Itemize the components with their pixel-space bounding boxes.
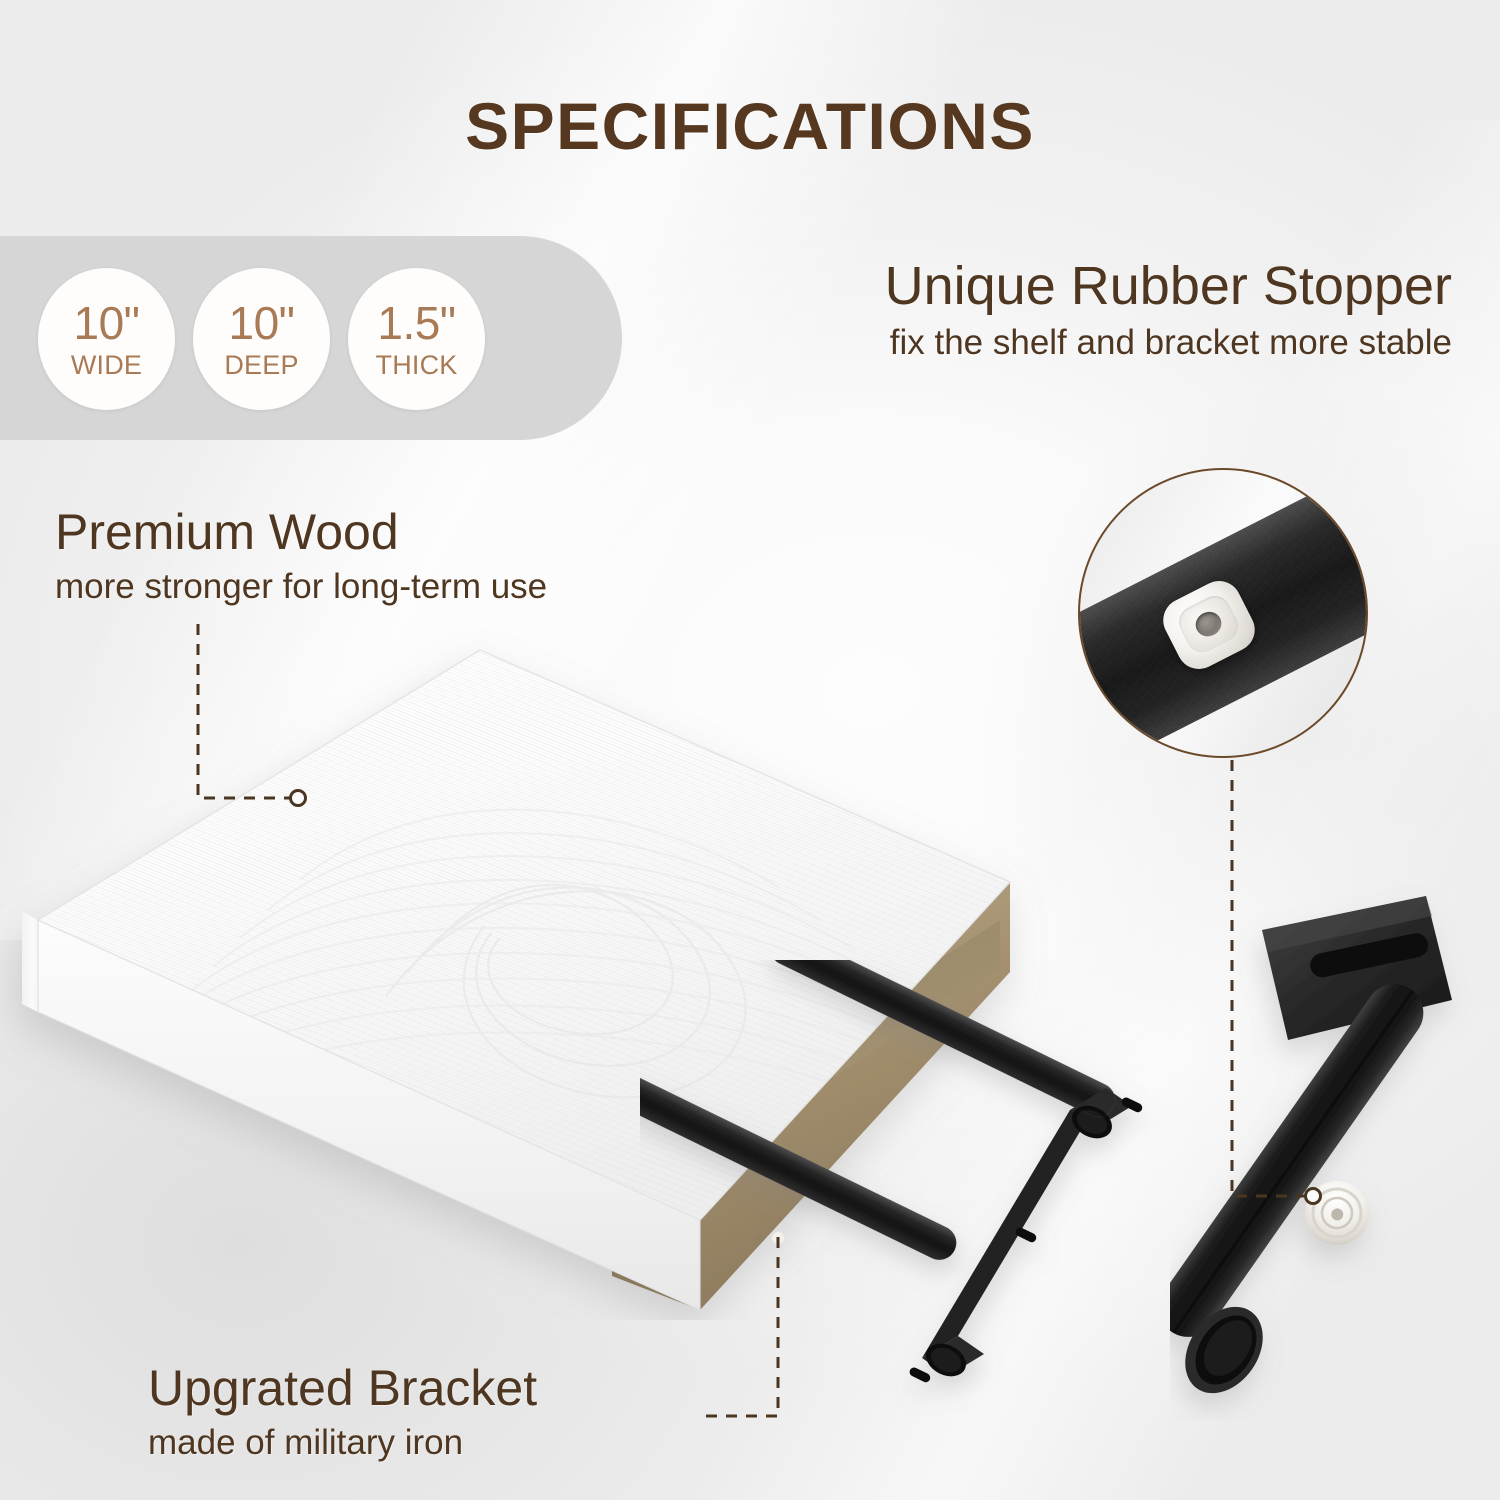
badge-value-wide: 10" [74, 300, 140, 346]
feature-rubber-stopper-title: Unique Rubber Stopper [885, 258, 1452, 315]
dimension-badge-deep: 10" DEEP [193, 268, 330, 410]
badge-value-deep: 10" [229, 300, 295, 346]
rubber-stopper-magnifier [1078, 468, 1368, 758]
metal-bracket-with-rubber-stopper [1170, 880, 1500, 1420]
feature-premium-wood: Premium Wood more stronger for long-term… [55, 506, 547, 608]
feature-premium-wood-subtitle: more stronger for long-term use [55, 566, 547, 608]
feature-upgraded-bracket: Upgrated Bracket made of military iron [148, 1362, 537, 1464]
feature-rubber-stopper-subtitle: fix the shelf and bracket more stable [885, 322, 1452, 364]
feature-upgraded-bracket-title: Upgrated Bracket [148, 1362, 537, 1415]
infographic-canvas: SPECIFICATIONS 10" WIDE 10" DEEP 1.5" TH… [0, 0, 1500, 1500]
feature-rubber-stopper: Unique Rubber Stopper fix the shelf and … [885, 258, 1452, 364]
badge-label-wide: WIDE [71, 352, 142, 379]
dimension-badge-wide: 10" WIDE [38, 268, 175, 410]
dimensions-badge-group: 10" WIDE 10" DEEP 1.5" THICK [38, 268, 485, 410]
badge-value-thick: 1.5" [377, 300, 455, 346]
feature-upgraded-bracket-subtitle: made of military iron [148, 1422, 537, 1464]
dimension-badge-thick: 1.5" THICK [348, 268, 485, 410]
feature-premium-wood-title: Premium Wood [55, 506, 547, 559]
badge-label-thick: THICK [376, 352, 458, 379]
page-title: SPECIFICATIONS [0, 88, 1500, 164]
badge-label-deep: DEEP [224, 352, 298, 379]
